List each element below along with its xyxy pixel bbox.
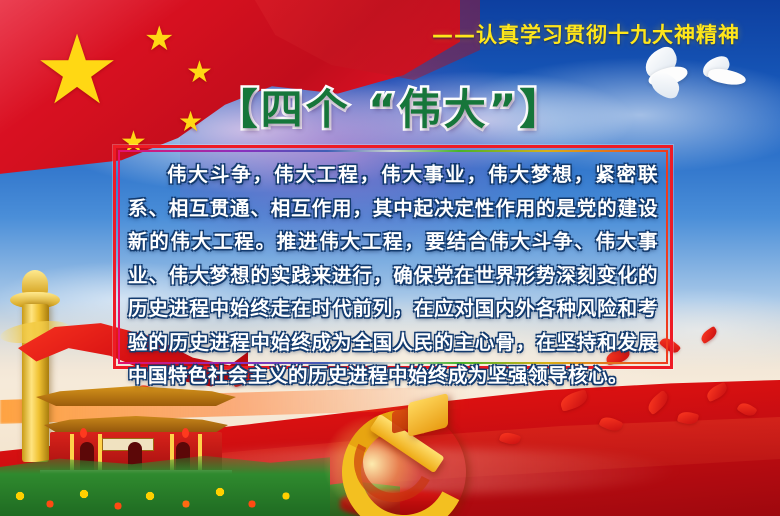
lantern-icon <box>182 428 189 438</box>
five-pointed-star-small: ★ <box>144 22 174 56</box>
poster-canvas: ★ ★ ★ ★ ★ ——认真学习贯彻十九大神精神 【四个 “伟大”】 伟大斗争，… <box>0 0 780 516</box>
hammer-and-sickle-emblem <box>334 382 464 514</box>
falling-petal <box>699 326 720 344</box>
body-paragraph: 伟大斗争，伟大工程，伟大事业，伟大梦想，紧密联系、相互贯通、相互作用，其中起决定… <box>128 158 658 393</box>
page-title: 【四个 “伟大”】 <box>0 76 780 137</box>
lantern-icon <box>80 428 87 438</box>
poster-headline: ——认真学习贯彻十九大神精神 <box>432 19 740 49</box>
panel-body: 伟大斗争，伟大工程，伟大事业，伟大梦想，紧密联系、相互贯通、相互作用，其中起决定… <box>128 158 658 356</box>
content-panel: 伟大斗争，伟大工程，伟大事业，伟大梦想，紧密联系、相互贯通、相互作用，其中起决定… <box>113 145 673 369</box>
